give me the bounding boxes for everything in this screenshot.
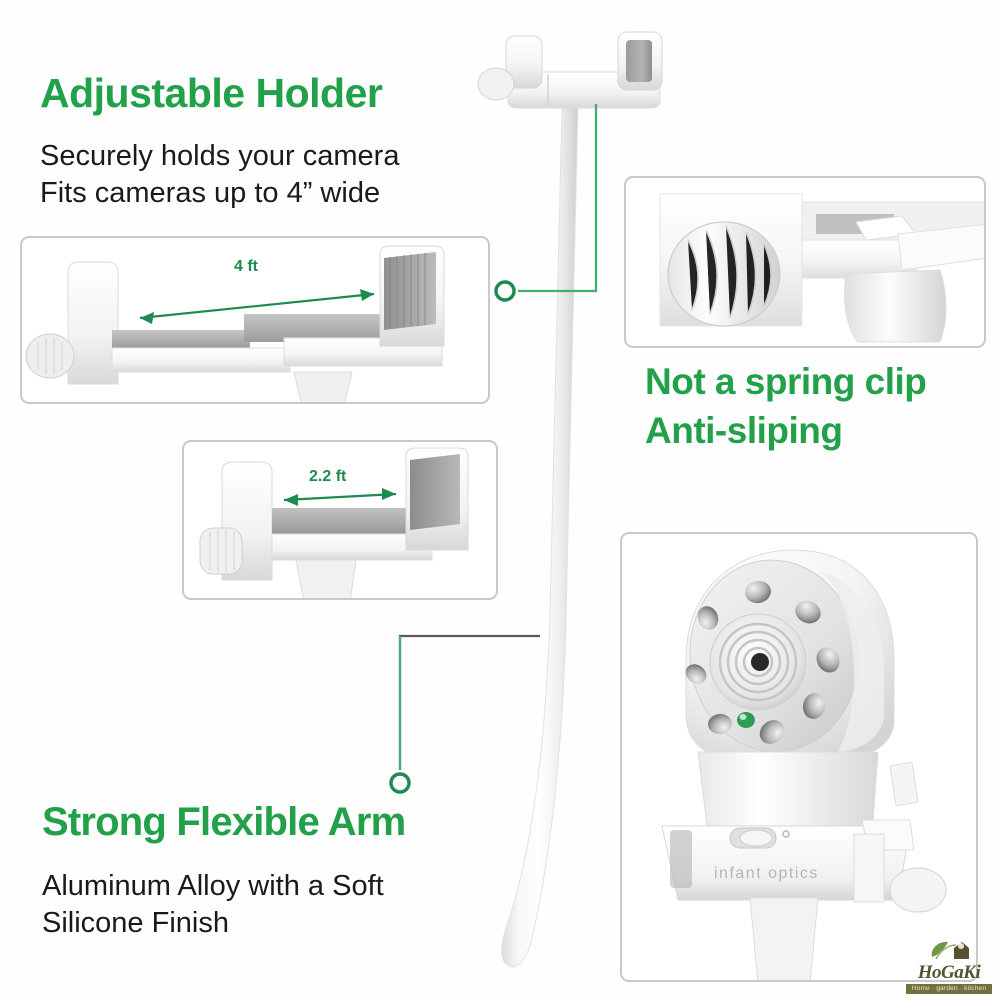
clamp-mount-stem	[296, 560, 356, 600]
mount-post	[845, 270, 947, 342]
watermark-tagline: Home · garden · kitchen	[906, 984, 992, 995]
holder-tightening-knob	[478, 68, 514, 100]
clamp-right-grip-pad	[410, 454, 460, 530]
feature-body-line-1: Aluminum Alloy with a Soft	[42, 868, 384, 905]
clamp-mount-stem	[294, 372, 352, 404]
feature-body-line-2: Fits cameras up to 4” wide	[40, 175, 399, 212]
holder-grip-pad	[626, 40, 652, 82]
clamp-closed-graphic	[184, 442, 498, 600]
tightening-knob	[668, 222, 780, 326]
feature-body-line-1: Securely holds your camera	[40, 138, 399, 175]
camera-brand-label: infant optics	[714, 865, 819, 882]
camera-mount-stem	[750, 898, 818, 982]
watermark-brand-name: HoGaKi	[906, 963, 992, 982]
clamp-right-grip-pad	[384, 252, 436, 330]
panel-clamp-closed: 2.2 ft	[182, 440, 498, 600]
bracket-right-tab	[890, 762, 918, 806]
clamp-tray-surface	[272, 508, 416, 534]
knob-closeup-graphic	[626, 178, 986, 348]
clamp-slide-rail	[112, 330, 250, 348]
base-left-slot	[670, 830, 692, 888]
clamp-knob	[26, 334, 74, 378]
infographic-canvas: Adjustable Holder Securely holds your ca…	[0, 0, 1000, 1000]
feature-title-strong-flexible-arm: Strong Flexible Arm	[42, 800, 405, 845]
camera-lens-aperture	[751, 653, 769, 671]
leaf-house-icon	[928, 937, 970, 963]
status-led-green	[737, 712, 755, 728]
feature-body-strong-flexible-arm: Aluminum Alloy with a Soft Silicone Fini…	[42, 868, 384, 942]
clamp-left-jaw	[68, 262, 118, 384]
dimension-label-22ft: 2.2 ft	[309, 468, 346, 486]
panel-camera: infant optics	[620, 532, 978, 982]
flexible-arm-shaft	[502, 108, 578, 967]
bracket-thumb-knob	[890, 868, 946, 912]
panel-knob-closeup	[624, 176, 986, 348]
panel-clamp-open: 4 ft	[20, 236, 490, 404]
power-switch-toggle[interactable]	[740, 830, 772, 846]
bracket-right-post	[854, 834, 884, 902]
camera-body	[698, 752, 878, 834]
status-led-highlight	[740, 714, 747, 720]
dimension-arrow-22ft	[284, 488, 396, 506]
watermark-logo: HoGaKi Home · garden · kitchen	[906, 937, 992, 995]
clamp-knob	[200, 528, 242, 574]
feature-body-adjustable-holder: Securely holds your camera Fits cameras …	[40, 138, 399, 212]
camera-graphic: infant optics	[622, 534, 978, 982]
clamp-lower-body-left	[112, 348, 290, 372]
feature-body-line-2: Silicone Finish	[42, 905, 384, 942]
feature-title-adjustable-holder: Adjustable Holder	[40, 70, 382, 117]
dimension-label-4ft: 4 ft	[234, 258, 258, 276]
